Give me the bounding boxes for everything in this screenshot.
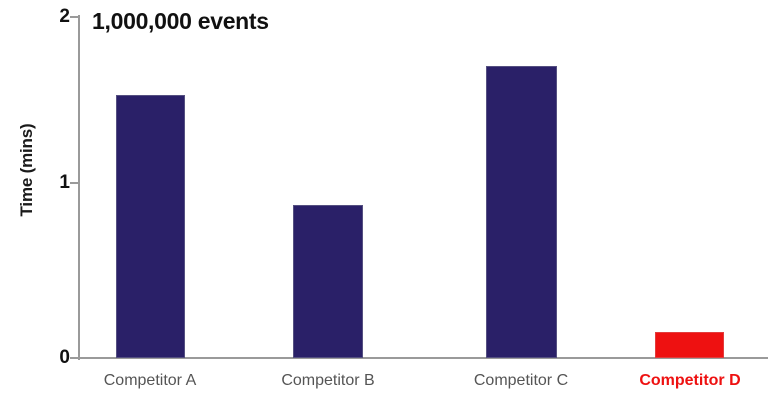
bar-chart: Time (mins) 2 1 0 Competitor A Competito… [0,0,781,419]
chart-title: 1,000,000 events [92,8,269,35]
x-label-competitor-a: Competitor A [80,372,220,390]
x-label-competitor-b: Competitor B [258,372,398,390]
bar-competitor-d [655,332,724,358]
bar-competitor-c [486,66,557,358]
x-label-competitor-d: Competitor D [620,372,760,390]
bar-competitor-b [293,205,363,358]
bar-competitor-a [116,95,185,358]
plot-area [0,0,781,419]
x-label-competitor-c: Competitor C [451,372,591,390]
